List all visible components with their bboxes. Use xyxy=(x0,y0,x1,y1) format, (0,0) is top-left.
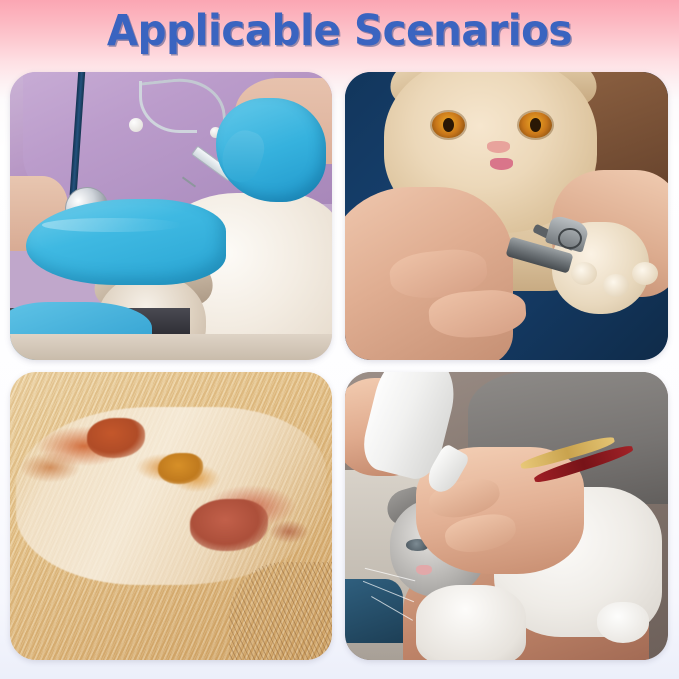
cat-toe-1 xyxy=(571,262,597,285)
page-title: Applicable Scenarios xyxy=(107,6,572,56)
cat-nose xyxy=(487,141,510,153)
scenario-panel-protect-after-surgery: Protect After Surgery xyxy=(10,72,332,360)
page-title-area: Applicable Scenarios xyxy=(0,0,679,62)
background-blue-mat xyxy=(345,579,403,642)
cat-mouth xyxy=(490,158,513,170)
counter-surface xyxy=(10,334,332,360)
scenario-panel-skin-disease-recovery: Skin Disease Recovery xyxy=(10,372,332,660)
scenario-panel-nail-cutting: Nail Cutting xyxy=(345,72,668,360)
photo-applying-medication xyxy=(345,372,668,660)
cat-toe-2 xyxy=(603,274,629,297)
photo-skin-lesion xyxy=(10,372,332,660)
nail-clipper-ring xyxy=(558,228,581,249)
cat-paw xyxy=(597,602,649,642)
poster-root: Applicable Scenarios xyxy=(0,0,679,679)
skin-lesion-area xyxy=(16,407,325,586)
scenario-panel-after-deworming-medication: After Deworming/Medication xyxy=(345,372,668,660)
photo-vet-injection xyxy=(10,72,332,360)
cat-chest xyxy=(416,585,526,660)
photo-nail-trimming xyxy=(345,72,668,360)
lesion-crust-lower xyxy=(190,499,267,551)
fur-strands-edge xyxy=(229,562,332,660)
